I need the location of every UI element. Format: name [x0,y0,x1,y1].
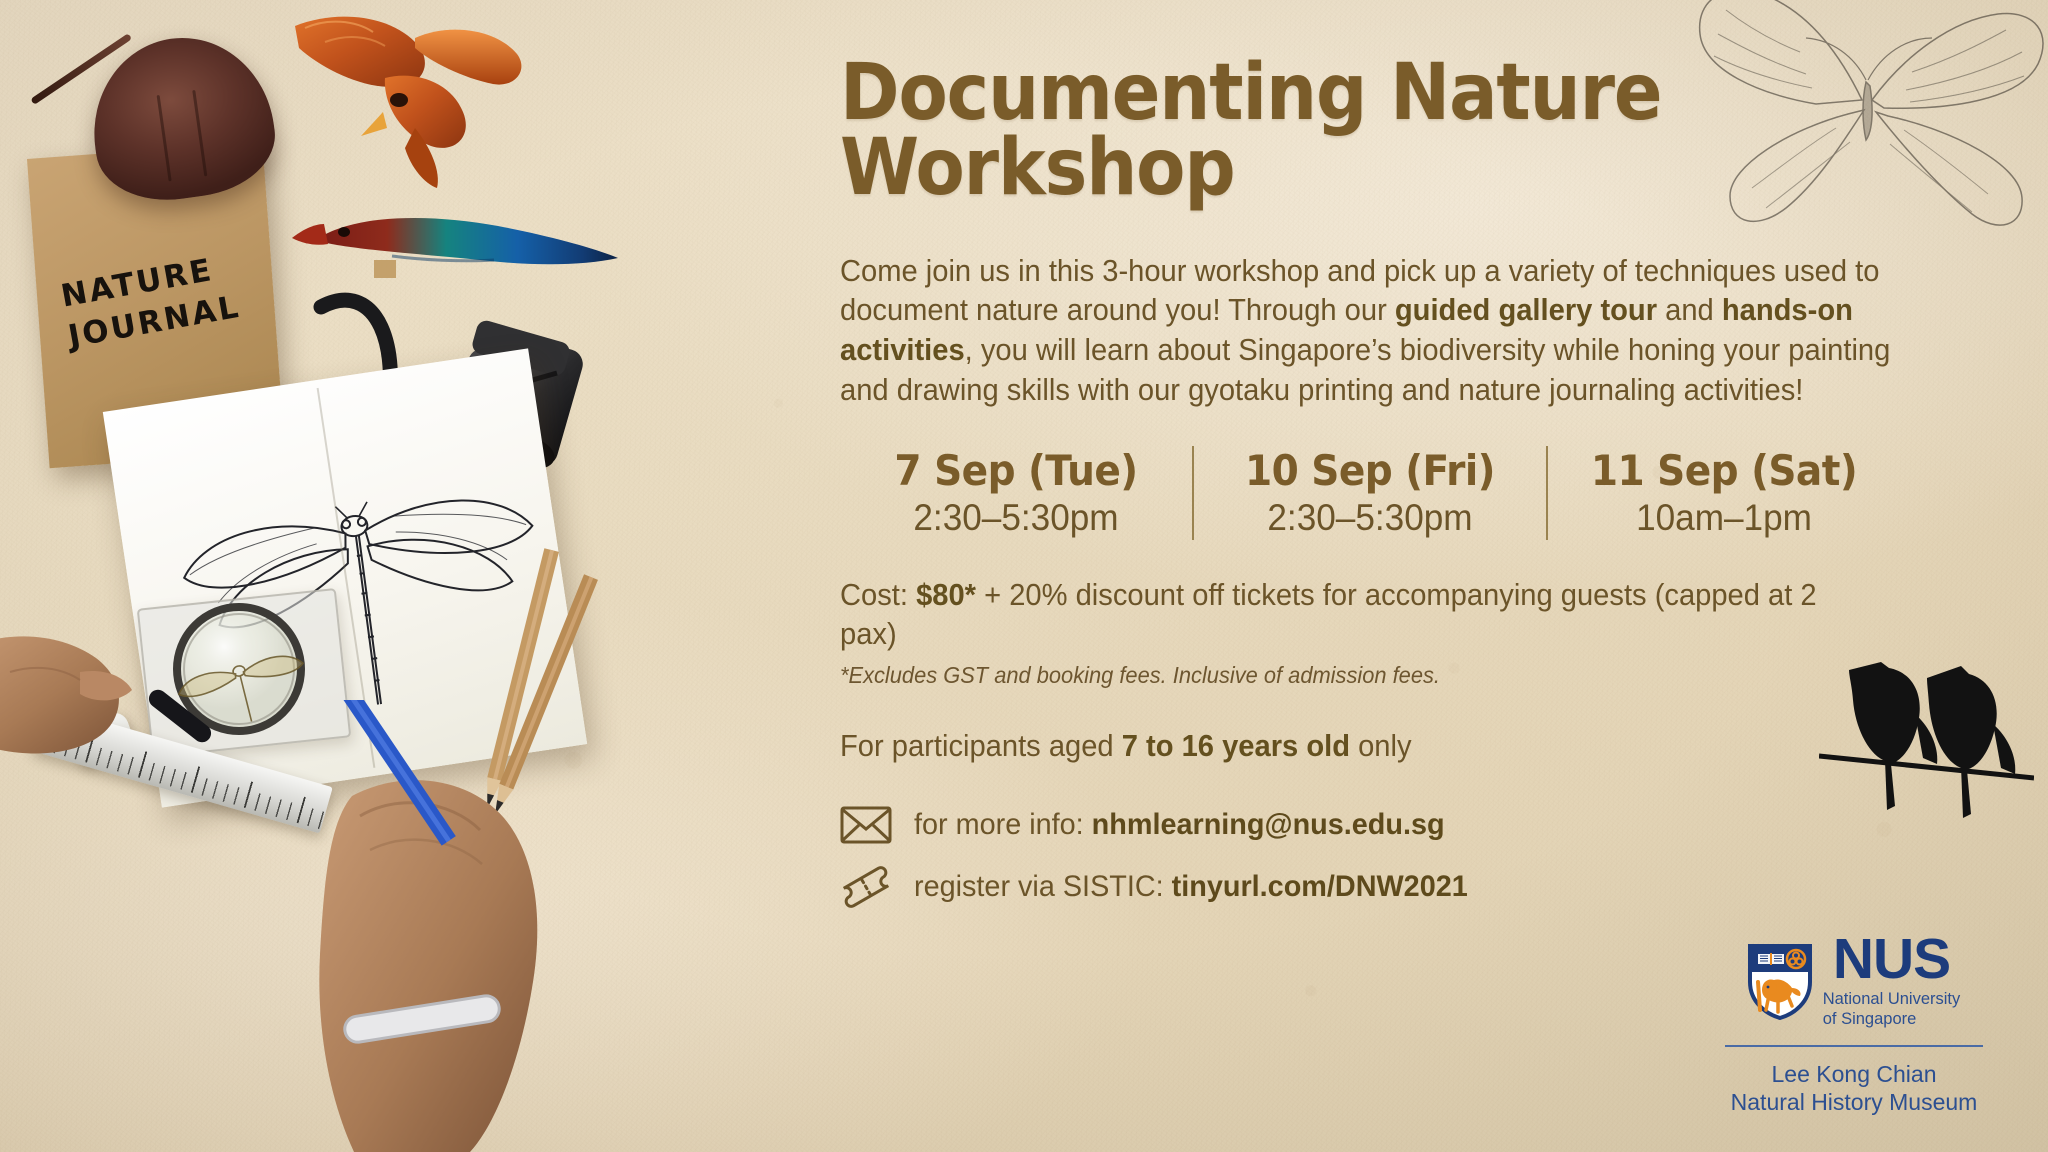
left-hand [0,580,220,780]
ruler-icon [31,705,333,834]
specimen-tray [137,588,352,758]
session-time: 2:30–5:30pm [1212,496,1527,540]
title-line-1: Documenting Nature [840,56,1889,131]
description-bold-guided-gallery-tour: guided gallery tour [1395,293,1657,327]
nus-wordmark-group: NUS National University of Singapore [1823,934,1961,1029]
nus-shield-icon [1748,944,1812,1020]
ruler-minor-ticks [32,730,325,830]
register-text: register via SISTIC: tinyurl.com/DNW2021 [914,870,1468,904]
horseshoe-crab-ridge [193,90,208,176]
title-line-2: Workshop [840,131,1889,206]
museum-name: Lee Kong Chian Natural History Museum [1704,1060,2004,1116]
session-date: 10 Sep (Fri) [1216,446,1525,496]
session-date: 7 Sep (Tue) [862,446,1171,496]
email-label: for more info: [914,808,1092,841]
email-address[interactable]: nhmlearning@nus.edu.sg [1092,808,1445,841]
museum-line-2: Natural History Museum [1704,1088,2004,1116]
session-date: 11 Sep (Sat) [1570,446,1879,496]
age-requirement: For participants aged 7 to 16 years old … [840,729,1929,764]
eraser-icon [67,709,138,769]
journal-line-1: NATURE [58,244,252,318]
kingfisher-specimen-icon [282,196,622,288]
register-row[interactable]: register via SISTIC: tinyurl.com/DNW2021 [840,866,1980,908]
session-column: 10 Sep (Fri) 2:30–5:30pm [1192,446,1546,539]
cost-line: Cost: $80* + 20% discount off tickets fo… [840,576,1871,655]
sketchbook-gutter [317,388,375,768]
page-title: Documenting Nature Workshop [840,56,1889,206]
logo-divider [1725,1045,1983,1047]
session-time: 2:30–5:30pm [858,496,1173,540]
email-row[interactable]: for more info: nhmlearning@nus.edu.sg [840,806,1980,844]
nus-logo-row: NUS National University of Singapore [1704,934,2004,1029]
description-paragraph: Come join us in this 3-hour workshop and… [840,252,1895,411]
poster-canvas: NATURE JOURNAL [0,0,2048,1152]
ruler-major-ticks [32,721,328,830]
session-time: 10am–1pm [1566,496,1881,540]
magnifying-glass-icon [135,585,345,775]
session-dates: 7 Sep (Tue) 2:30–5:30pm 10 Sep (Fri) 2:3… [840,446,1900,539]
description-part-2: and [1657,293,1722,327]
museum-line-1: Lee Kong Chian [1704,1060,2004,1088]
horseshoe-crab-telson [30,33,132,105]
session-column: 7 Sep (Tue) 2:30–5:30pm [840,446,1192,539]
age-prefix: For participants aged [840,729,1122,763]
horseshoe-crab-ridge [157,95,172,181]
email-text: for more info: nhmlearning@nus.edu.sg [914,808,1445,842]
cost-amount: $80* [916,578,976,612]
cost-prefix: Cost: [840,578,916,612]
horseshoe-crab-icon [82,26,283,209]
paradise-bird-specimen-icon [265,8,535,208]
age-suffix: only [1350,729,1412,763]
contact-block: for more info: nhmlearning@nus.edu.sg re… [840,806,1980,908]
register-label: register via SISTIC: [914,870,1172,903]
sketchbook [103,348,587,807]
nature-journal-notebook: NATURE JOURNAL [27,142,285,468]
binoculars-icon [295,285,605,555]
description-part-3: , you will learn about Singapore’s biodi… [840,333,1890,407]
nus-logo-block: NUS National University of Singapore Lee… [1704,934,2004,1116]
nature-journal-handwriting: NATURE JOURNAL [58,244,259,358]
dragonfly-drawing-icon [103,348,587,807]
nus-wordmark: NUS [1823,934,1961,985]
specimen-collage: NATURE JOURNAL [0,0,840,1152]
envelope-icon [840,806,892,844]
nus-subtitle-line-1: National University [1823,990,1961,1010]
age-range: 7 to 16 years old [1122,729,1350,763]
register-url[interactable]: tinyurl.com/DNW2021 [1172,870,1468,903]
session-column: 11 Sep (Sat) 10am–1pm [1546,446,1900,539]
pencils-icon [465,530,605,840]
ticket-icon [840,866,892,908]
nus-subtitle-line-2: of Singapore [1823,1010,1961,1030]
poster-content: Documenting Nature Workshop Come join us… [840,56,1980,908]
journal-line-2: JOURNAL [65,284,259,358]
right-hand [300,700,600,1152]
cost-suffix: + 20% discount off tickets for accompany… [840,578,1817,651]
nus-subtitle: National University of Singapore [1823,990,1961,1030]
cost-fineprint: *Excludes GST and booking fees. Inclusiv… [840,662,1923,689]
